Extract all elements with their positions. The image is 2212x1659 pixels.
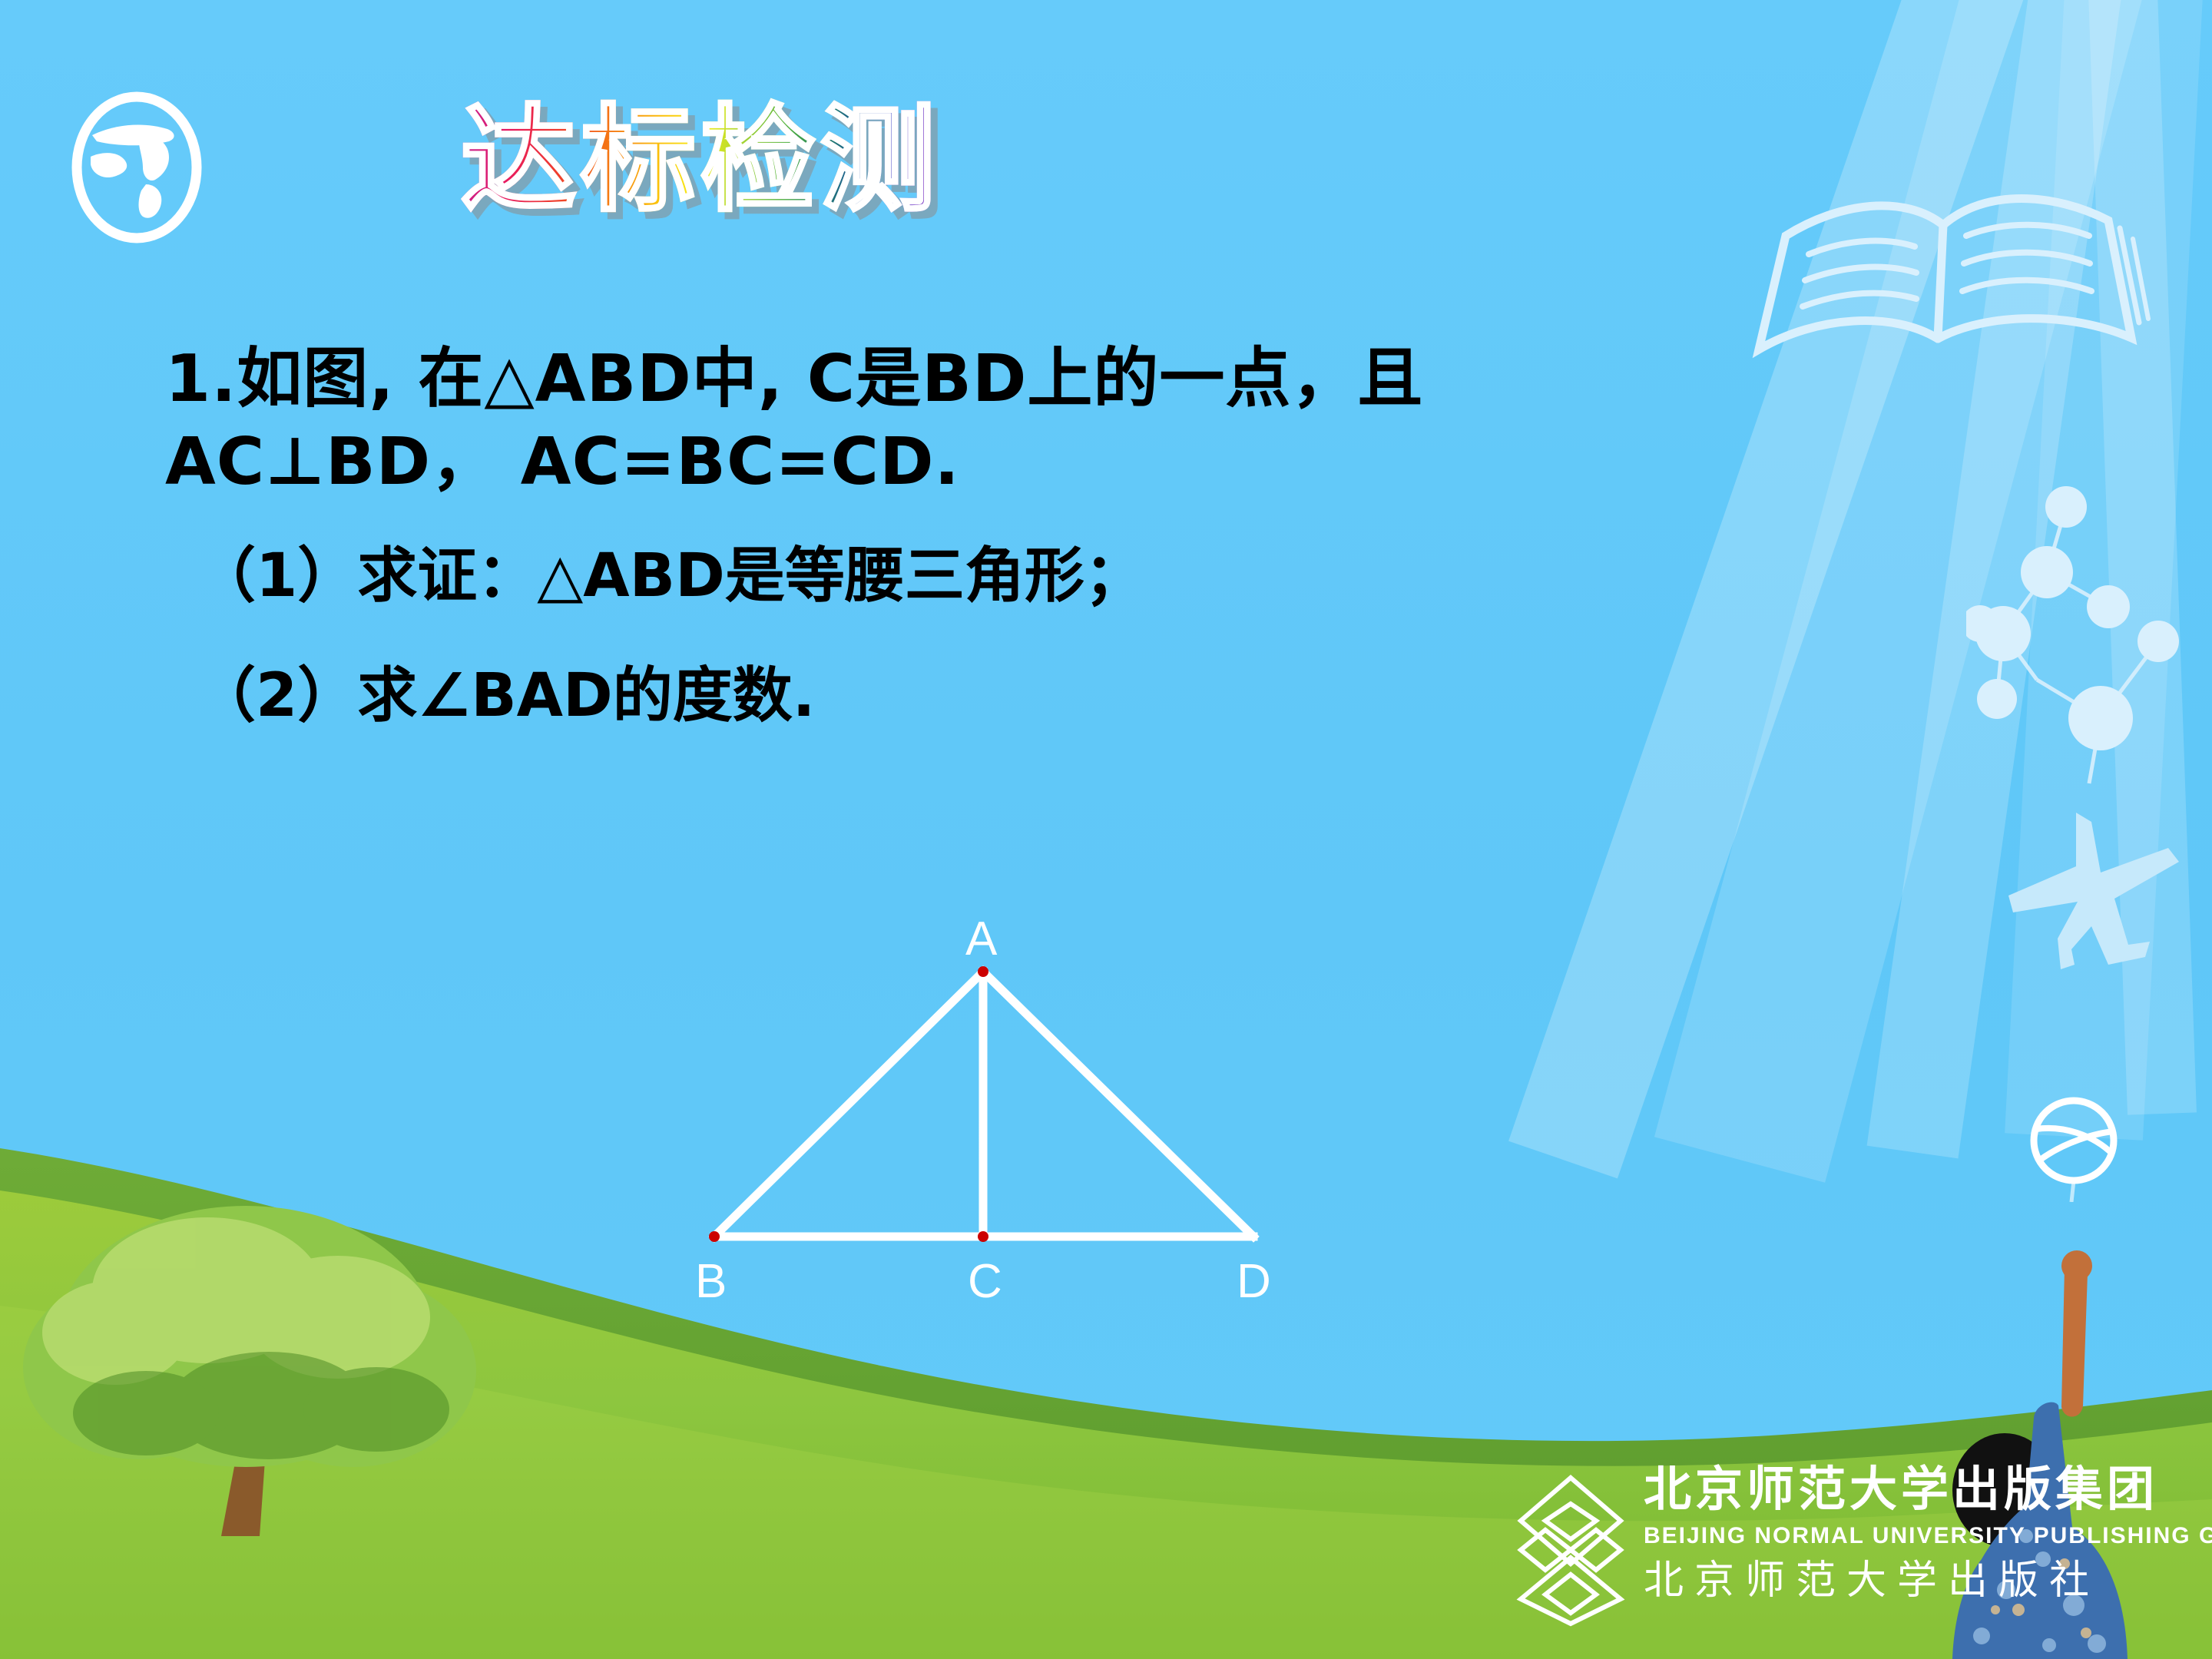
publisher-name-cn: 北京师范大学出版集团 <box>1644 1459 2197 1519</box>
point-B <box>709 1231 720 1242</box>
label-vertex-b: B <box>695 1258 727 1306</box>
segment-AB <box>714 972 983 1237</box>
slide-canvas: 达标检测 1.如图, 在△ABD中, C是BD上的一点，且 AC⊥BD， AC=… <box>0 0 2212 1659</box>
question-line-1: 1.如图, 在△ABD中, C是BD上的一点，且 <box>165 338 1701 421</box>
publisher-press-cn: 北京师范大学出版社 <box>1644 1553 2197 1608</box>
segment-AD <box>983 972 1253 1237</box>
question-body: 1.如图, 在△ABD中, C是BD上的一点，且 AC⊥BD， AC=BC=CD… <box>165 338 1701 739</box>
open-book-icon <box>1732 165 2162 419</box>
publisher-logo: 北京师范大学出版集团 BEIJING NORMAL UNIVERSITY PUB… <box>1505 1459 2197 1644</box>
label-vertex-a: A <box>965 916 997 963</box>
publisher-logo-text: 北京师范大学出版集团 BEIJING NORMAL UNIVERSITY PUB… <box>1644 1459 2197 1644</box>
question-sub-1: （1）求证：△ABD是等腰三角形； <box>196 533 1701 619</box>
publisher-name-en: BEIJING NORMAL UNIVERSITY PUBLISHING GRO… <box>1644 1519 2197 1553</box>
globe-icon <box>60 91 214 244</box>
label-vertex-d: D <box>1237 1258 1271 1306</box>
airplane-icon <box>1985 799 2193 991</box>
question-line-2: AC⊥BD， AC=BC=CD. <box>165 421 1701 504</box>
molecule-icon <box>1966 445 2212 799</box>
label-vertex-c: C <box>968 1258 1002 1306</box>
tree-icon <box>15 1175 507 1575</box>
point-C <box>978 1231 988 1242</box>
slide-title-container: 达标检测 <box>461 73 940 227</box>
question-sub-2: （2）求∠BAD的度数. <box>196 653 1701 739</box>
page-title: 达标检测 <box>461 67 940 233</box>
point-A <box>978 966 988 977</box>
geometry-figure: A B C D <box>630 899 1336 1329</box>
diamond-lattice-logo-icon <box>1505 1473 1636 1627</box>
